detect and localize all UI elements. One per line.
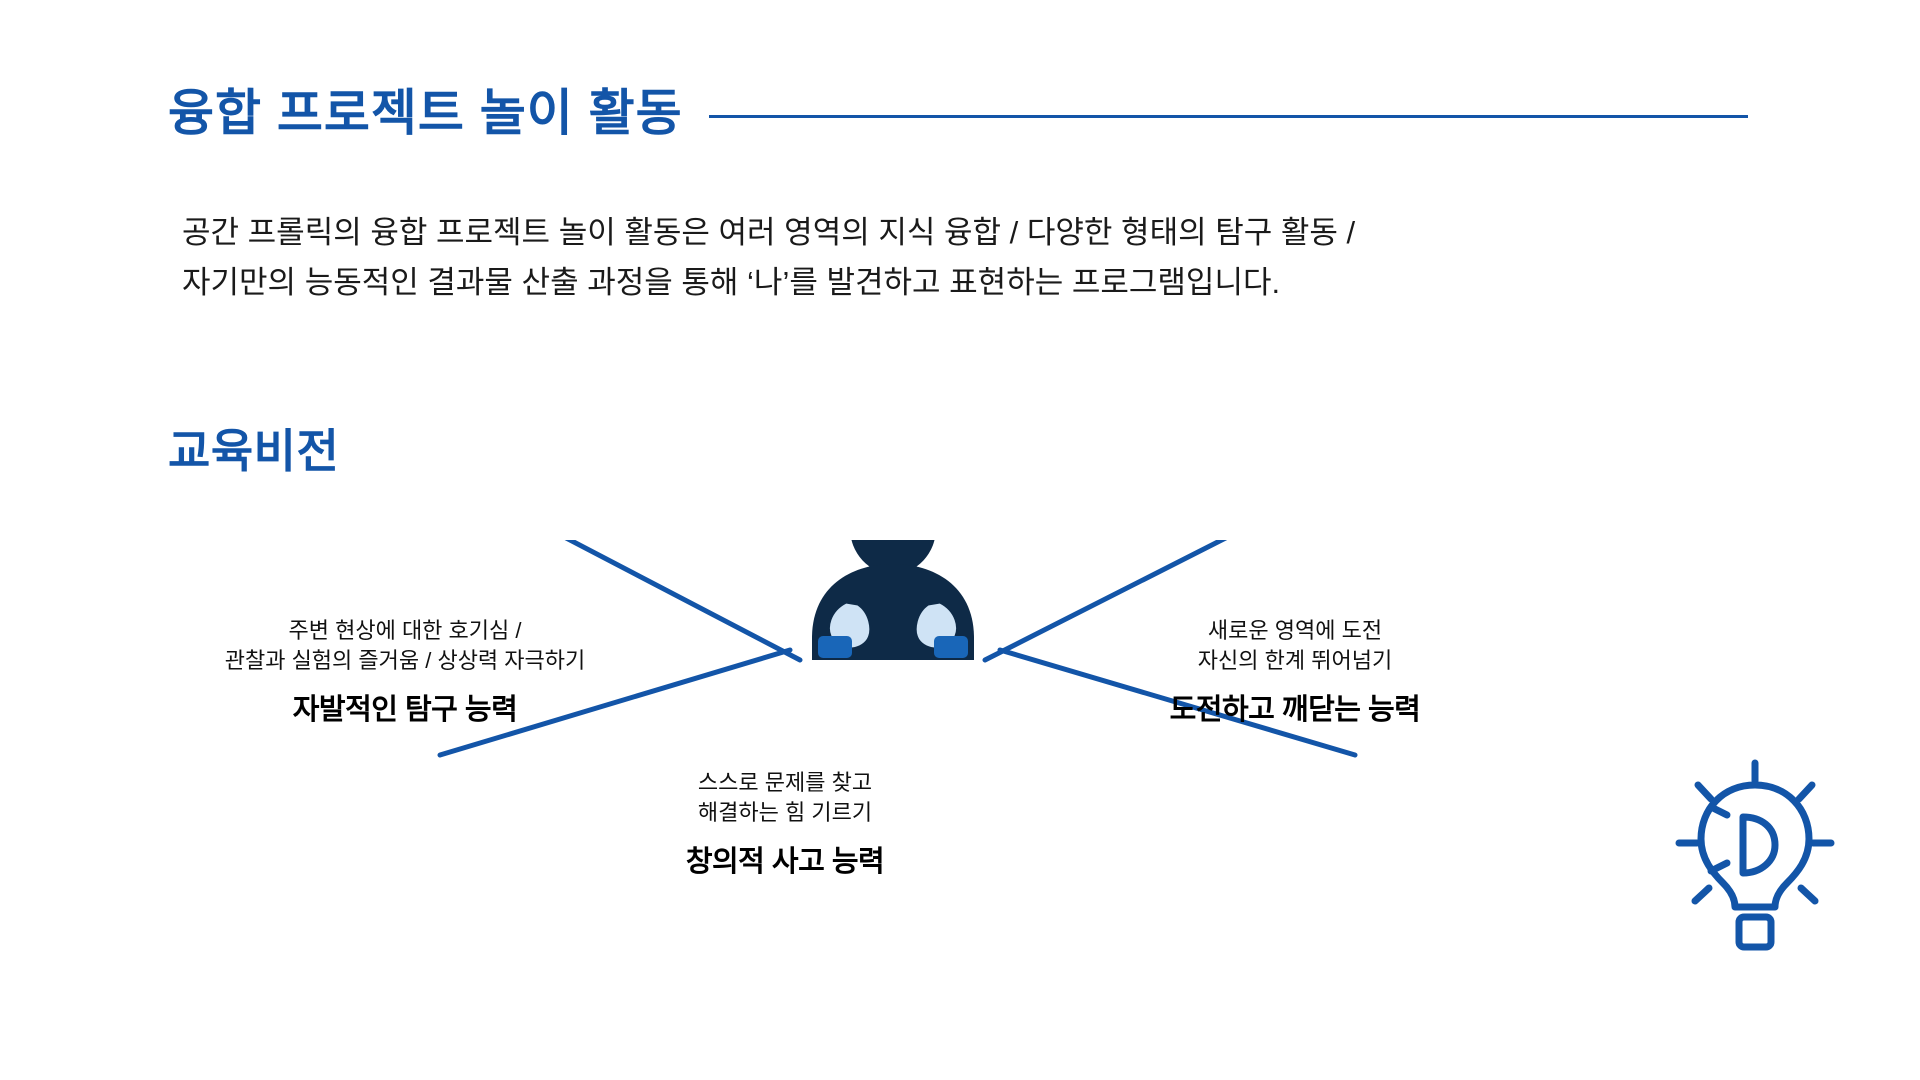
ray-bottom-left [1695, 888, 1709, 901]
vision-node-bottom-desc-line-2: 해결하는 힘 기르기 [575, 798, 995, 828]
vision-node-bottom: 스스로 문제를 찾고 해결하는 힘 기르기 창의적 사고 능력 [575, 768, 995, 880]
vision-node-right-desc-line-1: 새로운 영역에 도전 [1085, 616, 1505, 646]
vision-node-bottom-desc-line-1: 스스로 문제를 찾고 [575, 768, 995, 798]
vision-node-right-desc: 새로운 영역에 도전 자신의 한계 뛰어넘기 [1085, 616, 1505, 676]
page-title: 융합 프로젝트 놀이 활동 [168, 88, 683, 138]
ray-top-right [1799, 785, 1812, 799]
ray-bottom-right [1801, 888, 1815, 901]
intro-paragraph: 공간 프롤릭의 융합 프로젝트 놀이 활동은 여러 영역의 지식 융합 / 다양… [182, 208, 1355, 308]
vision-node-right-title: 도전하고 깨닫는 능력 [1085, 686, 1505, 728]
education-vision-diagram: 주변 현상에 대한 호기심 / 관찰과 실험의 즐거움 / 상상력 자극하기 자… [0, 540, 1920, 1060]
vision-node-bottom-title: 창의적 사고 능력 [575, 838, 995, 880]
bulb-filament [1743, 817, 1775, 873]
left-cuff [818, 636, 852, 658]
vision-node-left: 주변 현상에 대한 호기심 / 관찰과 실험의 즐거움 / 상상력 자극하기 자… [195, 616, 615, 728]
section-heading-education-vision: 교육비전 [168, 428, 339, 474]
vision-node-right-desc-line-2: 자신의 한계 뛰어넘기 [1085, 646, 1505, 676]
title-divider-rule [709, 115, 1748, 118]
person-figure [812, 540, 974, 660]
intro-paragraph-line-2: 자기만의 능동적인 결과물 산출 과정을 통해 ‘나’를 발견하고 표현하는 프… [182, 258, 1355, 308]
vision-node-bottom-desc: 스스로 문제를 찾고 해결하는 힘 기르기 [575, 768, 995, 828]
intro-paragraph-line-1: 공간 프롤릭의 융합 프로젝트 놀이 활동은 여러 영역의 지식 융합 / 다양… [182, 208, 1355, 258]
slide-header: 융합 프로젝트 놀이 활동 [168, 88, 1748, 138]
gear-teeth [1711, 807, 1727, 871]
right-cuff [934, 636, 968, 658]
slide-canvas: 융합 프로젝트 놀이 활동 공간 프롤릭의 융합 프로젝트 놀이 활동은 여러 … [0, 0, 1920, 1080]
bulb-glass [1701, 785, 1809, 907]
bulb-base [1739, 917, 1771, 947]
vision-node-left-desc-line-1: 주변 현상에 대한 호기심 / [195, 616, 615, 646]
vision-node-left-desc: 주변 현상에 대한 호기심 / 관찰과 실험의 즐거움 / 상상력 자극하기 [195, 616, 615, 676]
vision-node-right: 새로운 영역에 도전 자신의 한계 뛰어넘기 도전하고 깨닫는 능력 [1085, 616, 1505, 728]
vision-node-left-title: 자발적인 탐구 능력 [195, 686, 615, 728]
lightbulb-gear-icon [1665, 755, 1845, 955]
vision-node-left-desc-line-2: 관찰과 실험의 즐거움 / 상상력 자극하기 [195, 646, 615, 676]
ray-top-left [1698, 785, 1711, 799]
